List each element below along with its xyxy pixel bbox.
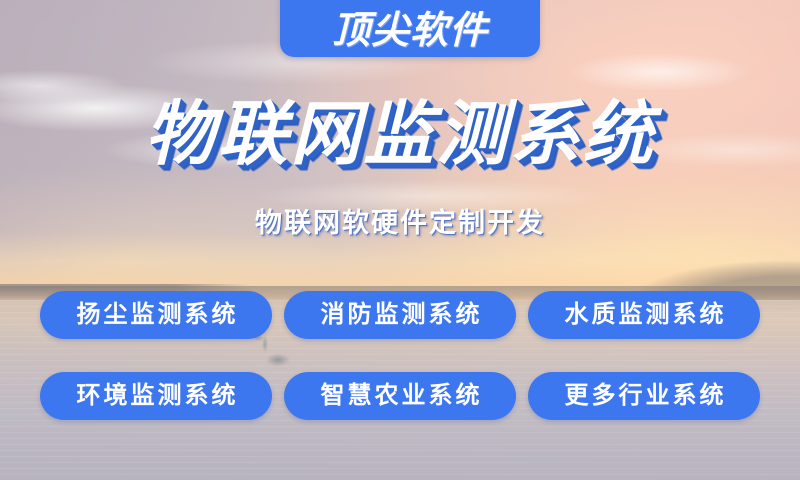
service-button-label: 水质监测系统	[562, 301, 727, 329]
banner-content: 顶尖软件 物联网监测系统 物联网软硬件定制开发 扬尘监测系统 消防监测系统 水质…	[0, 0, 800, 480]
service-button-dust-monitoring[interactable]: 扬尘监测系统	[40, 291, 272, 339]
service-button-fire-monitoring[interactable]: 消防监测系统	[284, 291, 516, 339]
banner-subtitle: 物联网软硬件定制开发	[0, 206, 800, 240]
service-button-environment-monitoring[interactable]: 环境监测系统	[40, 372, 272, 420]
service-button-label: 环境监测系统	[74, 382, 239, 410]
service-button-label: 更多行业系统	[562, 382, 727, 410]
brand-badge-label: 顶尖软件	[332, 9, 488, 53]
service-button-more-industries[interactable]: 更多行业系统	[528, 372, 760, 420]
promo-banner: 顶尖软件 物联网监测系统 物联网软硬件定制开发 扬尘监测系统 消防监测系统 水质…	[0, 0, 800, 480]
service-button-water-quality-monitoring[interactable]: 水质监测系统	[528, 291, 760, 339]
service-button-grid: 扬尘监测系统 消防监测系统 水质监测系统 环境监测系统 智慧农业系统 更多行业系…	[40, 291, 760, 420]
brand-badge: 顶尖软件	[280, 0, 540, 57]
service-button-label: 扬尘监测系统	[74, 301, 239, 329]
banner-title: 物联网监测系统	[0, 92, 800, 176]
service-button-label: 消防监测系统	[318, 301, 483, 329]
service-button-smart-agriculture[interactable]: 智慧农业系统	[284, 372, 516, 420]
service-button-label: 智慧农业系统	[318, 382, 483, 410]
